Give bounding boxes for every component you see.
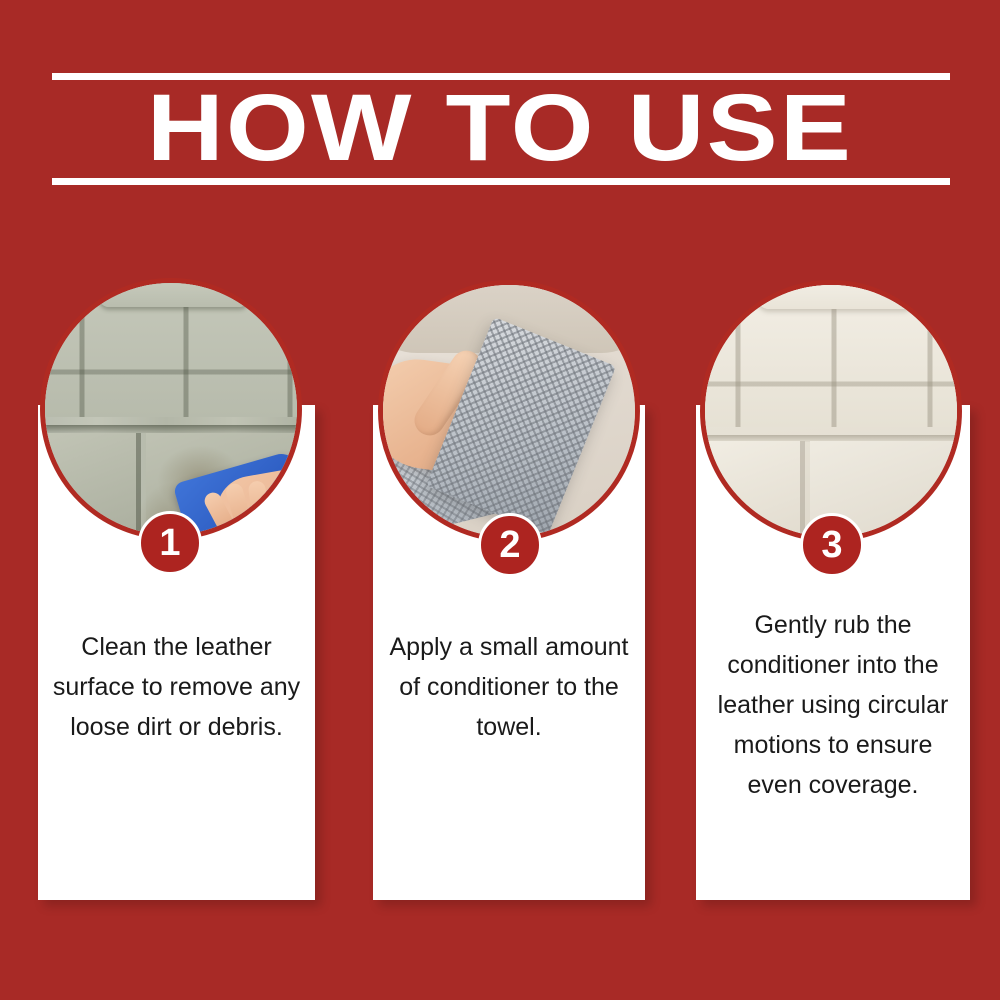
sofa-illustration-3: [705, 285, 957, 537]
hand-holding-grey-microfibre-towel-photo: [378, 280, 640, 542]
clean-cream-leather-sofa-photo: [700, 280, 962, 542]
step-number-badge-2: 2: [478, 513, 542, 577]
photo-inner-3: [705, 285, 957, 537]
photo-inner-2: [383, 285, 635, 537]
step-description-2: Apply a small amount of conditioner to t…: [385, 627, 633, 747]
photo-inner-1: [45, 283, 297, 535]
sofa-cushion-left: [705, 441, 805, 537]
sofa-seam: [45, 425, 297, 433]
step-number-badge-3: 3: [800, 513, 864, 577]
step-description-3: Gently rub the conditioner into the leat…: [708, 605, 958, 805]
steps-container: Clean the leather surface to remove any …: [0, 0, 1000, 1000]
towel-illustration: [383, 285, 635, 537]
step-description-1: Clean the leather surface to remove any …: [50, 627, 303, 747]
sofa-headrest: [99, 283, 249, 307]
dirty-leather-sofa-with-blue-cloth-photo: [40, 278, 302, 540]
sofa-illustration-1: [45, 283, 297, 535]
finger: [270, 485, 288, 535]
step-number-badge-1: 1: [138, 511, 202, 575]
sofa-headrest: [757, 285, 915, 309]
sofa-cushion-left: [45, 433, 141, 535]
